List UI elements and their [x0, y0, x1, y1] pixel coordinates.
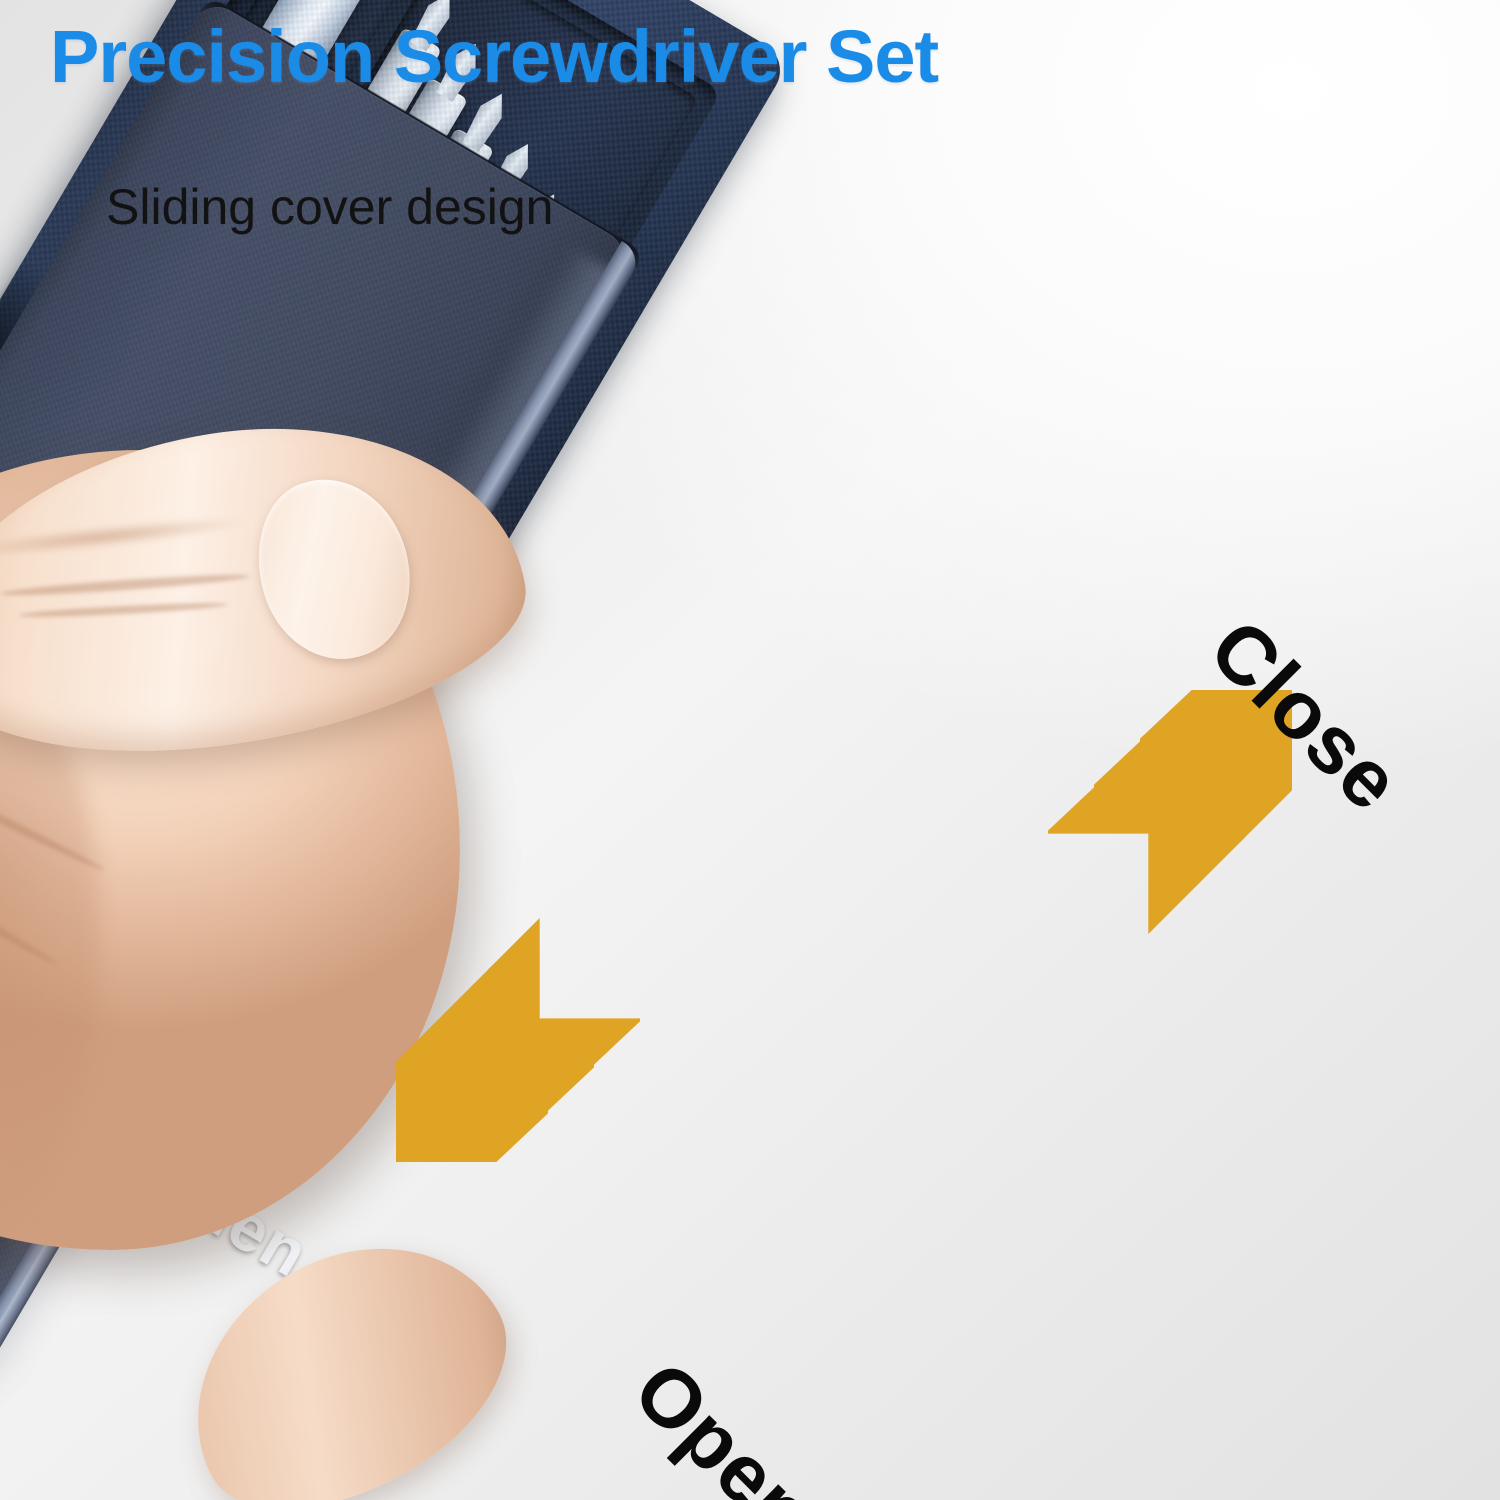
hand-holding-case	[0, 330, 720, 1380]
feature-caption: Sliding cover design	[106, 178, 554, 236]
product-marketing-image: CR-V PH000 CR-V/ PH00 CR-V/ PH0 CR-V/ PH…	[0, 0, 1500, 1500]
page-title: Precision Screwdriver Set	[50, 14, 938, 99]
